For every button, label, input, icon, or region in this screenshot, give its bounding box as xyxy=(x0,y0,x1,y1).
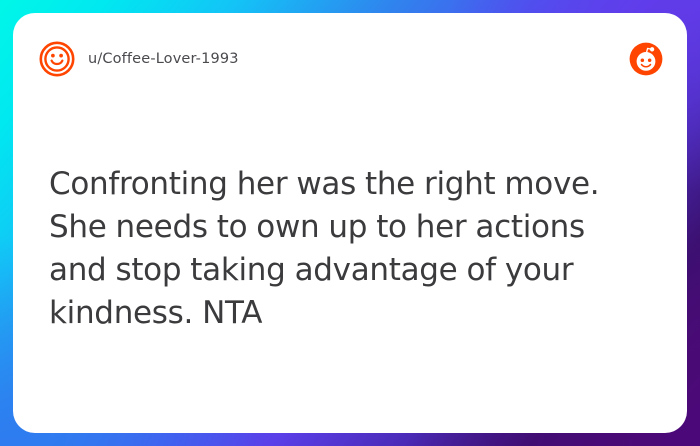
smiley-face-avatar-icon[interactable] xyxy=(39,41,75,77)
username-label: u/Coffee-Lover-1993 xyxy=(88,51,239,67)
reddit-snoo-logo-icon[interactable] xyxy=(629,42,663,76)
card-header: u/Coffee-Lover-1993 xyxy=(13,13,687,105)
comment-card: u/Coffee-Lover-1993 Confronting her was … xyxy=(13,13,687,433)
comment-text: Confronting her was the right move. She … xyxy=(49,163,649,335)
screenshot-stage: u/Coffee-Lover-1993 Confronting her was … xyxy=(0,0,700,446)
